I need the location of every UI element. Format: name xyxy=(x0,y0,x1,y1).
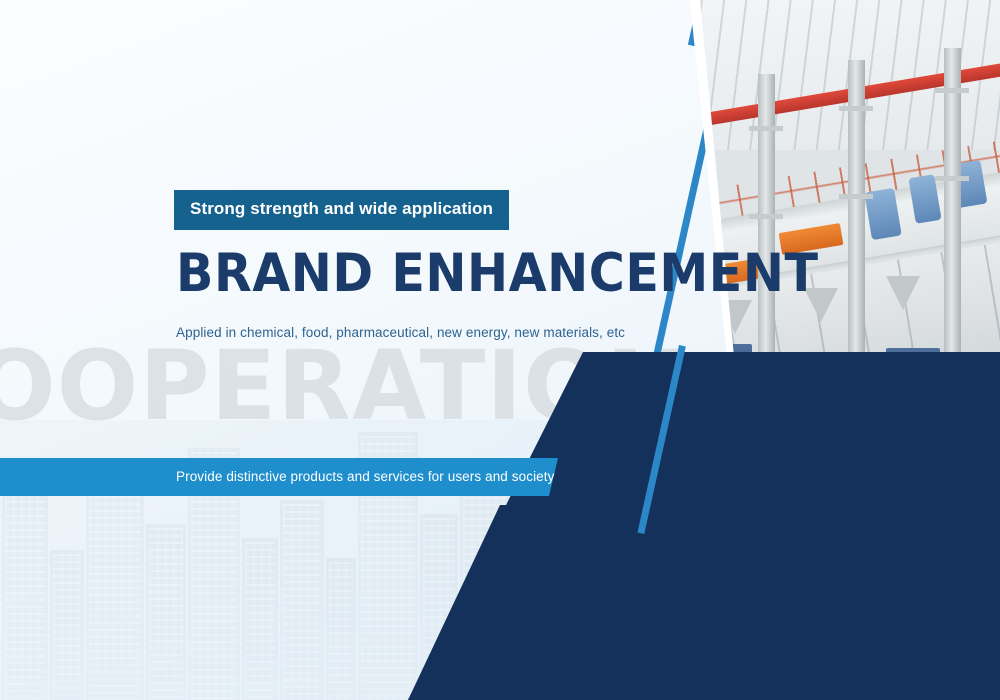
steel-column xyxy=(848,60,865,392)
column-brace xyxy=(663,152,697,157)
subtitle: Applied in chemical, food, pharmaceutica… xyxy=(176,325,625,340)
steel-column xyxy=(944,48,961,392)
tagline-badge[interactable]: Strong strength and wide application xyxy=(174,190,509,230)
page-title: BRAND ENHANCEMENT xyxy=(176,246,819,302)
bottom-bar-label: Provide distinctive products and service… xyxy=(176,469,554,484)
cityscape-building xyxy=(146,524,186,700)
column-brace xyxy=(749,214,783,219)
column-brace xyxy=(749,126,783,131)
column-brace xyxy=(839,106,873,111)
cityscape-building xyxy=(2,490,48,700)
cityscape-building xyxy=(50,550,84,700)
column-brace xyxy=(935,176,969,181)
material-hopper xyxy=(886,276,920,310)
steel-column xyxy=(758,74,775,392)
column-brace xyxy=(839,194,873,199)
column-brace xyxy=(585,180,619,185)
cityscape-building xyxy=(326,558,356,700)
cityscape-building xyxy=(280,500,324,700)
cityscape-building xyxy=(86,464,144,700)
promotional-banner: OOPERATION xyxy=(0,0,1000,700)
column-brace xyxy=(935,88,969,93)
cityscape-building xyxy=(242,538,278,700)
